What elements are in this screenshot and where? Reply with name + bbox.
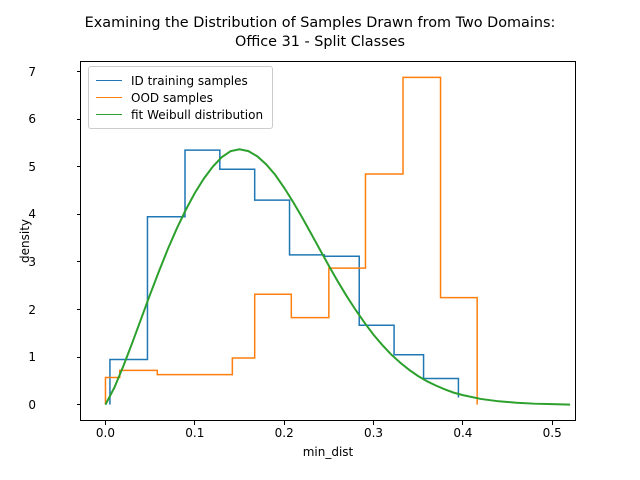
y-tick-mark — [77, 404, 81, 405]
y-axis-label: density — [18, 219, 32, 263]
x-tick-mark — [373, 421, 374, 425]
x-tick-label: 0.4 — [433, 426, 493, 440]
x-tick-label: 0.0 — [75, 426, 135, 440]
legend: ID training samplesOOD samplesfit Weibul… — [88, 66, 273, 129]
y-tick-label: 0 — [0, 398, 36, 412]
legend-color-swatch — [96, 114, 122, 115]
chart-title: Examining the Distribution of Samples Dr… — [0, 14, 640, 52]
x-tick-mark — [194, 421, 195, 425]
legend-item: fit Weibull distribution — [96, 106, 263, 123]
y-tick-mark — [77, 214, 81, 215]
y-tick-mark — [77, 119, 81, 120]
x-tick-mark — [105, 421, 106, 425]
x-tick-label: 0.3 — [344, 426, 404, 440]
figure: Examining the Distribution of Samples Dr… — [0, 0, 640, 480]
legend-item: ID training samples — [96, 72, 263, 89]
x-tick-label: 0.2 — [254, 426, 314, 440]
y-tick-mark — [77, 166, 81, 167]
y-tick-label: 6 — [0, 112, 36, 126]
legend-label: fit Weibull distribution — [131, 108, 263, 122]
legend-item: OOD samples — [96, 89, 263, 106]
x-tick-label: 0.5 — [522, 426, 582, 440]
legend-color-swatch — [96, 97, 122, 98]
legend-label: ID training samples — [131, 74, 248, 88]
x-tick-mark — [552, 421, 553, 425]
y-tick-mark — [77, 357, 81, 358]
y-tick-label: 7 — [0, 65, 36, 79]
series-path — [105, 149, 570, 404]
y-tick-mark — [77, 309, 81, 310]
x-axis-label: min_dist — [303, 445, 354, 459]
y-tick-label: 5 — [0, 160, 36, 174]
x-tick-mark — [284, 421, 285, 425]
y-tick-label: 1 — [0, 350, 36, 364]
legend-color-swatch — [96, 80, 122, 81]
x-tick-mark — [462, 421, 463, 425]
legend-label: OOD samples — [131, 91, 213, 105]
y-tick-mark — [77, 261, 81, 262]
x-tick-label: 0.1 — [165, 426, 225, 440]
y-tick-mark — [77, 71, 81, 72]
y-tick-label: 2 — [0, 303, 36, 317]
